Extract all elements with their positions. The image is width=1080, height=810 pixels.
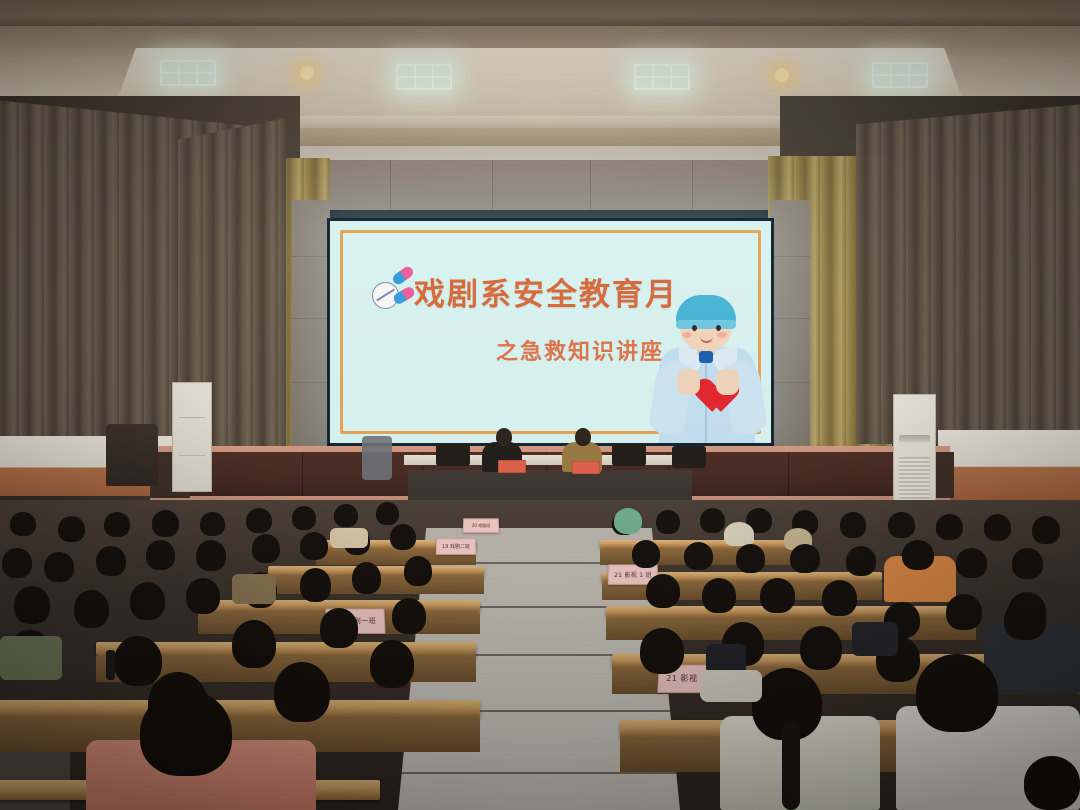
jacket-on-desk xyxy=(330,528,368,548)
wall-panel-right-of-screen xyxy=(770,200,810,450)
audience-head xyxy=(1012,548,1043,579)
audience-head xyxy=(1004,600,1046,640)
audience-head xyxy=(74,590,109,628)
water-bottle xyxy=(106,650,115,680)
audience-head xyxy=(200,512,225,536)
audience-head xyxy=(946,594,982,630)
ceiling-soffit-outer xyxy=(0,0,1080,26)
audience-head xyxy=(846,546,876,576)
audience-head xyxy=(840,512,866,538)
audience-head xyxy=(320,608,358,648)
audience-head xyxy=(646,574,680,608)
audience-head xyxy=(640,628,684,674)
wainscot-right xyxy=(938,430,1080,500)
audience-head xyxy=(300,568,331,602)
stage-equipment-bag xyxy=(362,436,392,480)
wall-panel-left-of-screen xyxy=(292,200,330,450)
ceiling-panel-light xyxy=(634,64,690,90)
white-cabinet xyxy=(172,382,212,492)
auditorium-photo: 戏剧系安全教育月 之急救知识讲座 xyxy=(0,0,1080,810)
audience-head xyxy=(130,582,165,620)
audience-head xyxy=(186,578,220,614)
ceiling-downlight xyxy=(775,68,789,82)
audience-head xyxy=(334,504,358,527)
audience-head xyxy=(822,580,857,616)
audience-head xyxy=(246,508,272,533)
slide-subtitle: 之急救知识讲座 xyxy=(496,334,664,366)
audience-head xyxy=(152,510,179,537)
audience-head xyxy=(2,548,32,578)
curtain-dark-right xyxy=(856,104,1080,444)
ceiling-downlight xyxy=(300,66,314,80)
ceiling-soffit-outer-2 xyxy=(0,26,1080,48)
floor-ac-unit xyxy=(893,394,936,508)
stage-chair xyxy=(612,444,646,466)
audience-head xyxy=(352,562,381,594)
speaker-nameplate xyxy=(498,460,526,473)
audience-head xyxy=(292,506,316,530)
audience-head xyxy=(376,502,399,525)
audience-head xyxy=(390,524,416,550)
audience-head xyxy=(274,662,330,722)
audience-head xyxy=(956,548,987,578)
audience-head xyxy=(146,540,175,570)
audience-head xyxy=(760,578,795,613)
audience-head xyxy=(790,544,820,573)
audience-head xyxy=(902,540,934,570)
audience-head xyxy=(300,532,328,560)
audience-head xyxy=(736,544,765,573)
backpack xyxy=(852,622,898,656)
audience-head xyxy=(888,512,915,538)
audience-head xyxy=(404,556,432,586)
stage-podium xyxy=(106,424,158,486)
bag-on-seat xyxy=(700,670,762,702)
class-placard: 19 戏剧二班 xyxy=(436,538,477,554)
audience-head xyxy=(916,654,998,732)
audience-head-hat xyxy=(724,522,754,546)
audience-head xyxy=(14,586,50,624)
audience-head xyxy=(370,640,414,688)
slide-surface: 戏剧系安全教育月 之急救知识讲座 xyxy=(330,221,771,443)
audience-head-beanie xyxy=(614,508,642,534)
audience-head xyxy=(44,552,74,582)
audience-head xyxy=(684,542,713,570)
audience-head xyxy=(1024,756,1080,810)
audience-head xyxy=(936,514,963,540)
audience-head xyxy=(140,690,232,776)
audience-head xyxy=(10,512,36,536)
audience-head xyxy=(702,578,736,613)
audience-head xyxy=(800,626,842,670)
audience-head xyxy=(96,546,126,576)
desk-row xyxy=(0,700,480,718)
ceiling-panel-light xyxy=(160,60,216,86)
audience-head xyxy=(656,510,680,534)
projection-screen: 戏剧系安全教育月 之急救知识讲座 xyxy=(327,218,774,446)
doctor-holding-heart-icon xyxy=(649,295,765,443)
audience-head xyxy=(632,540,660,568)
audience-head xyxy=(58,516,85,542)
audience-head xyxy=(392,598,426,634)
audience-head xyxy=(1032,516,1060,544)
stage-chair xyxy=(436,444,470,466)
class-placard: 20 戏剧班 xyxy=(463,518,499,533)
ceiling-panel-light xyxy=(396,64,452,90)
stage-chair xyxy=(672,446,706,468)
audience-head xyxy=(252,534,280,563)
audience-head xyxy=(104,512,130,537)
audience-head xyxy=(700,508,725,533)
ceiling-panel-light xyxy=(872,62,928,88)
audience-head xyxy=(114,636,162,686)
audience-head xyxy=(984,514,1011,541)
backpack xyxy=(0,636,62,680)
audience-head xyxy=(196,540,226,571)
audience-head xyxy=(232,620,276,668)
tote-bag xyxy=(232,574,276,604)
pills-icon xyxy=(372,268,420,310)
ponytail xyxy=(782,722,800,810)
speaker-nameplate xyxy=(572,461,600,474)
